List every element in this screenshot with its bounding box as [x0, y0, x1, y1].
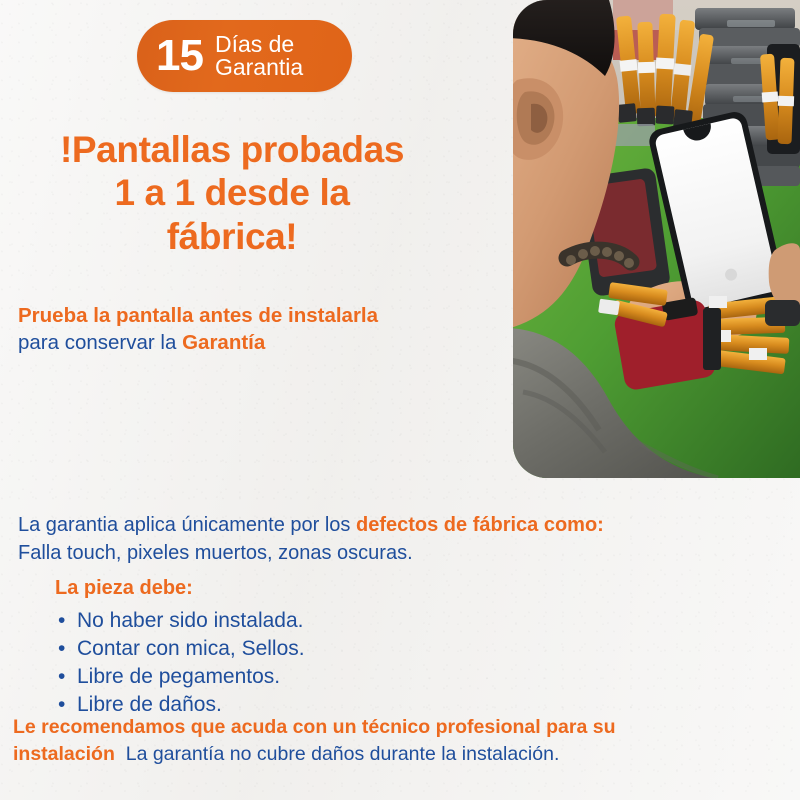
- warranty-body-line-1: La garantia aplica únicamente por los de…: [18, 511, 788, 539]
- badge-days-number: 15: [156, 34, 203, 78]
- recommendation-line-2-navy: La garantía no cubre daños durante la in…: [126, 743, 560, 765]
- recommendation-line-2-orange: instalación: [13, 743, 115, 765]
- badge-label-group: Días de Garantia: [215, 33, 303, 80]
- subheadline-line-2: para conservar la Garantía: [18, 330, 458, 357]
- badge-label-line2: Garantia: [215, 56, 303, 79]
- subheadline-warranty-word: Garantía: [182, 331, 265, 354]
- warranty-body-copy: La garantia aplica únicamente por los de…: [18, 511, 788, 568]
- warranty-body-line-1-strong: defectos de fábrica como:: [356, 514, 604, 536]
- headline: !Pantallas probadas 1 a 1 desde la fábri…: [8, 128, 456, 258]
- promo-banner: 15 Días de Garantia !Pantallas probadas …: [0, 0, 800, 800]
- subheadline-line-1: Prueba la pantalla antes de instalarla: [18, 303, 458, 330]
- headline-line-3: fábrica!: [8, 215, 456, 258]
- badge-label-line1: Días de: [215, 33, 303, 56]
- headline-line-1: !Pantallas probadas: [8, 128, 456, 171]
- list-item: Contar con mica, Sellos.: [58, 635, 305, 663]
- piece-requirements-title: La pieza debe:: [55, 577, 193, 600]
- technician-testing-screen-photo: [513, 0, 800, 478]
- subheadline: Prueba la pantalla antes de instalarla p…: [18, 303, 458, 356]
- recommendation-line-2: instalación La garantía no cubre daños d…: [13, 741, 793, 768]
- subheadline-line-2-plain: para conservar la: [18, 331, 182, 354]
- warranty-body-line-1-plain: La garantia aplica únicamente por los: [18, 514, 356, 536]
- recommendation-line-1: Le recomendamos que acuda con un técnico…: [13, 714, 793, 741]
- list-item: No haber sido instalada.: [58, 607, 305, 635]
- headline-line-2: 1 a 1 desde la: [8, 171, 456, 214]
- photo-illustration: [513, 0, 800, 478]
- warranty-badge: 15 Días de Garantia: [137, 20, 352, 92]
- list-item: Libre de pegamentos.: [58, 663, 305, 691]
- warranty-body-line-2: Falla touch, pixeles muertos, zonas oscu…: [18, 539, 788, 567]
- piece-requirements-list: No haber sido instalada. Contar con mica…: [58, 607, 305, 719]
- installation-recommendation: Le recomendamos que acuda con un técnico…: [13, 714, 793, 768]
